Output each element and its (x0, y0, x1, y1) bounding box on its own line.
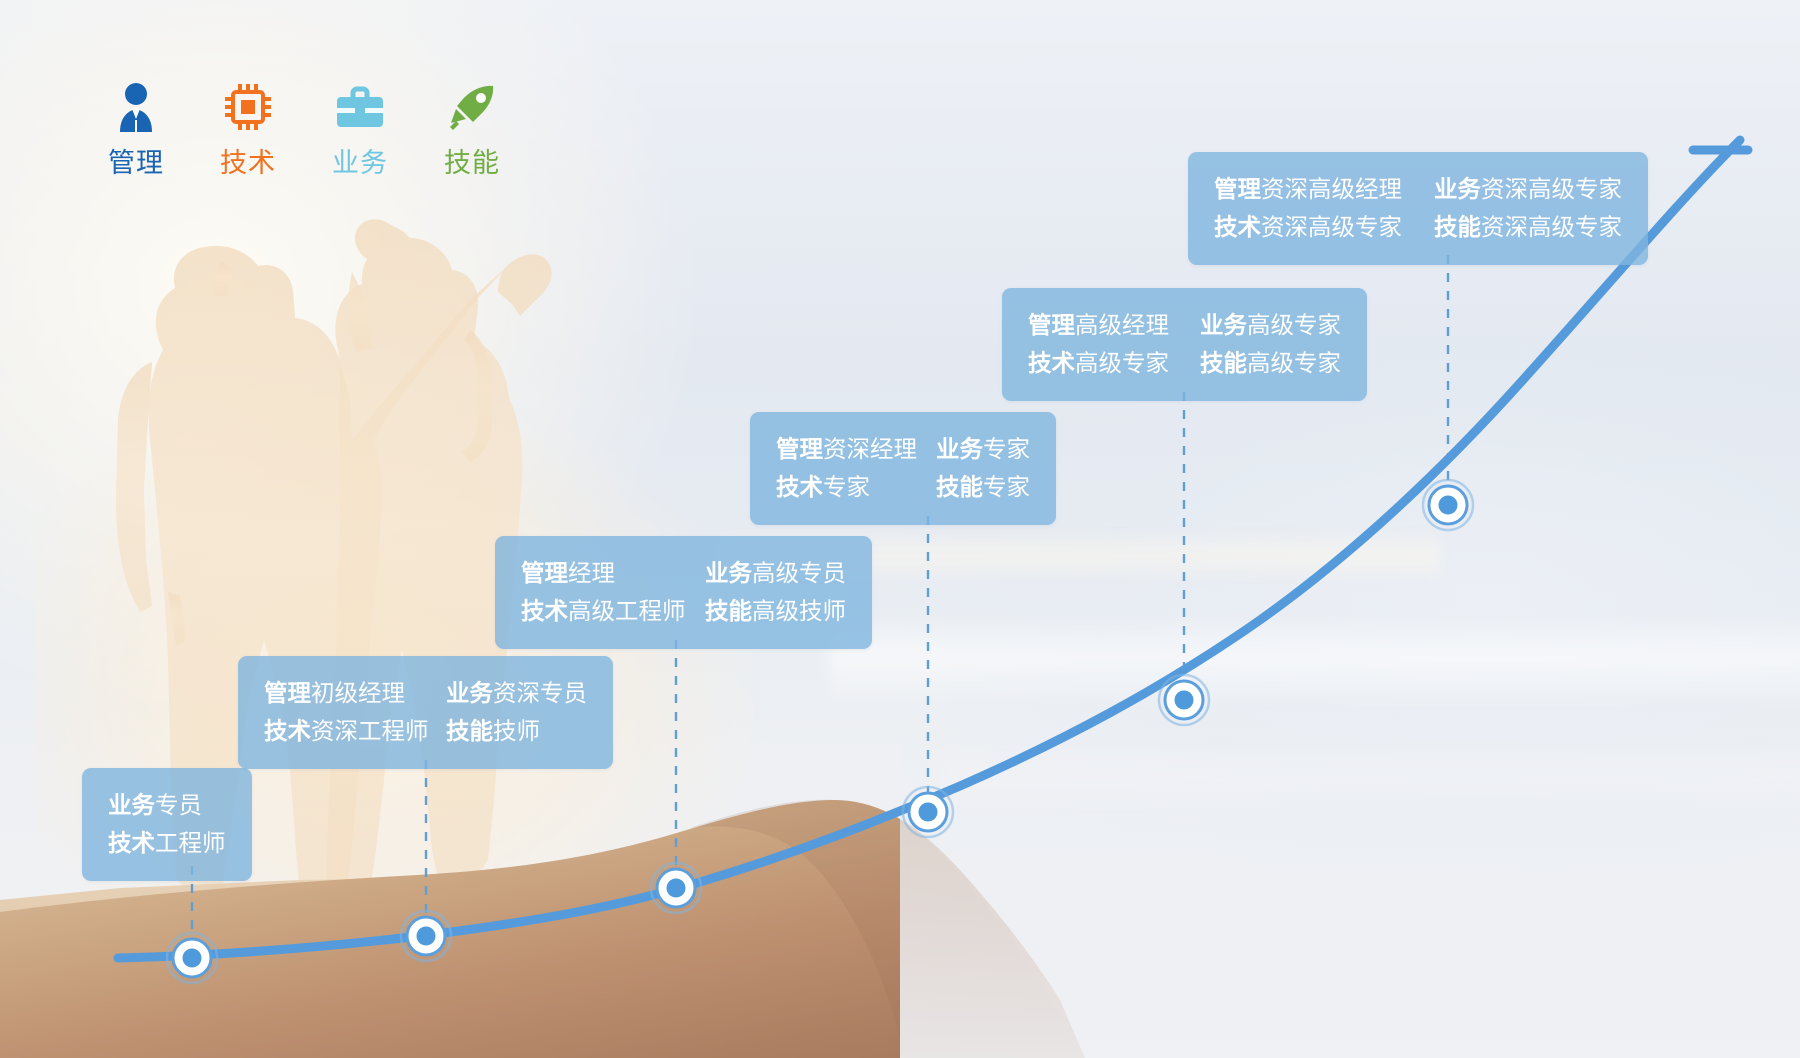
legend-label-skill: 技能 (444, 150, 500, 177)
card-row: 技术高级工程师 技能高级技师 (521, 592, 846, 630)
category-prefix: 技术 (264, 712, 311, 750)
card-row: 技术高级专家 技能高级专家 (1028, 344, 1341, 382)
rank-title: 资深工程师 (311, 712, 429, 750)
category-prefix: 业务 (1200, 306, 1247, 344)
card-cell: 技能资深高级专家 (1434, 208, 1622, 246)
category-prefix: 业务 (1434, 170, 1481, 208)
card-cell: 业务专员 (108, 786, 202, 824)
card-cell: 管理经理 (521, 554, 705, 592)
level-card-6[interactable]: 管理资深高级经理 业务资深高级专家 技术资深高级专家 技能资深高级专家 (1188, 152, 1648, 265)
legend-item-technology[interactable]: 技术 (192, 78, 304, 177)
category-prefix: 技术 (1028, 344, 1075, 382)
card-cell: 管理初级经理 (264, 674, 446, 712)
legend-item-skill[interactable]: 技能 (416, 78, 528, 177)
node-level-4[interactable] (903, 787, 953, 837)
card-row: 技术专家 技能专家 (776, 468, 1030, 506)
card-row: 管理经理 业务高级专员 (521, 554, 846, 592)
category-prefix: 技能 (1434, 208, 1481, 246)
rank-title: 专家 (983, 430, 1030, 468)
rank-title: 专员 (155, 786, 202, 824)
category-legend: 管理 (80, 78, 528, 177)
card-cell: 业务资深专员 (446, 674, 587, 712)
infographic-canvas: 管理 (0, 0, 1800, 1058)
rank-title: 经理 (568, 554, 615, 592)
legend-label-technology: 技术 (220, 150, 276, 177)
card-row: 技术工程师 (108, 824, 226, 862)
card-cell: 业务高级专员 (705, 554, 846, 592)
category-prefix: 业务 (108, 786, 155, 824)
category-prefix: 管理 (1214, 170, 1261, 208)
category-prefix: 技术 (521, 592, 568, 630)
category-prefix: 技术 (108, 824, 155, 862)
rank-title: 资深专员 (493, 674, 587, 712)
rank-title: 高级工程师 (568, 592, 686, 630)
rank-title: 高级技师 (752, 592, 846, 630)
category-prefix: 技能 (936, 468, 983, 506)
node-level-3[interactable] (651, 863, 701, 913)
rank-title: 专家 (983, 468, 1030, 506)
card-row: 技术资深工程师 技能技师 (264, 712, 587, 750)
node-level-1[interactable] (167, 933, 217, 983)
category-prefix: 业务 (936, 430, 983, 468)
rank-title: 高级专员 (752, 554, 846, 592)
level-card-2[interactable]: 管理初级经理 业务资深专员 技术资深工程师 技能技师 (238, 656, 613, 769)
category-prefix: 管理 (1028, 306, 1075, 344)
card-row: 管理初级经理 业务资深专员 (264, 674, 587, 712)
card-cell: 技能高级专家 (1200, 344, 1341, 382)
card-cell: 技术高级工程师 (521, 592, 705, 630)
rank-title: 资深高级专家 (1261, 208, 1402, 246)
node-level-5[interactable] (1159, 675, 1209, 725)
briefcase-icon (334, 78, 386, 136)
card-cell: 业务资深高级专家 (1434, 170, 1622, 208)
category-prefix: 业务 (446, 674, 493, 712)
category-prefix: 技能 (1200, 344, 1247, 382)
rank-title: 工程师 (155, 824, 226, 862)
card-cell: 技能技师 (446, 712, 540, 750)
node-level-6[interactable] (1423, 480, 1473, 530)
legend-item-management[interactable]: 管理 (80, 78, 192, 177)
rank-title: 资深高级专家 (1481, 170, 1622, 208)
rank-title: 资深经理 (823, 430, 917, 468)
card-cell: 业务专家 (936, 430, 1030, 468)
card-row: 管理高级经理 业务高级专家 (1028, 306, 1341, 344)
rank-title: 高级专家 (1247, 344, 1341, 382)
legend-label-business: 业务 (332, 150, 388, 177)
legend-item-business[interactable]: 业务 (304, 78, 416, 177)
rank-title: 技师 (493, 712, 540, 750)
category-prefix: 管理 (264, 674, 311, 712)
card-cell: 管理资深经理 (776, 430, 936, 468)
card-cell: 技能高级技师 (705, 592, 846, 630)
card-cell: 技术资深工程师 (264, 712, 446, 750)
category-prefix: 管理 (776, 430, 823, 468)
card-cell: 技术专家 (776, 468, 936, 506)
rocket-icon (447, 78, 497, 136)
category-prefix: 业务 (705, 554, 752, 592)
category-prefix: 管理 (521, 554, 568, 592)
rank-title: 资深高级经理 (1261, 170, 1402, 208)
rank-title: 高级专家 (1075, 344, 1169, 382)
card-row: 技术资深高级专家 技能资深高级专家 (1214, 208, 1622, 246)
category-prefix: 技能 (446, 712, 493, 750)
card-row: 管理资深经理 业务专家 (776, 430, 1030, 468)
category-prefix: 技术 (776, 468, 823, 506)
node-level-2[interactable] (401, 911, 451, 961)
level-card-4[interactable]: 管理资深经理 业务专家 技术专家 技能专家 (750, 412, 1056, 525)
rank-title: 高级专家 (1247, 306, 1341, 344)
rank-title: 专家 (823, 468, 870, 506)
category-prefix: 技能 (705, 592, 752, 630)
level-card-3[interactable]: 管理经理 业务高级专员 技术高级工程师 技能高级技师 (495, 536, 872, 649)
card-cell: 技能专家 (936, 468, 1030, 506)
card-cell: 技术工程师 (108, 824, 226, 862)
card-cell: 业务高级专家 (1200, 306, 1341, 344)
rank-title: 资深高级专家 (1481, 208, 1622, 246)
card-cell: 管理高级经理 (1028, 306, 1200, 344)
legend-label-management: 管理 (108, 150, 164, 177)
rank-title: 高级经理 (1075, 306, 1169, 344)
cpu-chip-icon (224, 78, 272, 136)
card-cell: 技术资深高级专家 (1214, 208, 1434, 246)
card-row: 业务专员 (108, 786, 226, 824)
card-cell: 管理资深高级经理 (1214, 170, 1434, 208)
category-prefix: 技术 (1214, 208, 1261, 246)
level-card-1[interactable]: 业务专员 技术工程师 (82, 768, 252, 881)
level-card-5[interactable]: 管理高级经理 业务高级专家 技术高级专家 技能高级专家 (1002, 288, 1367, 401)
manager-person-icon (112, 78, 160, 136)
card-cell: 技术高级专家 (1028, 344, 1200, 382)
card-row: 管理资深高级经理 业务资深高级专家 (1214, 170, 1622, 208)
rank-title: 初级经理 (311, 674, 405, 712)
